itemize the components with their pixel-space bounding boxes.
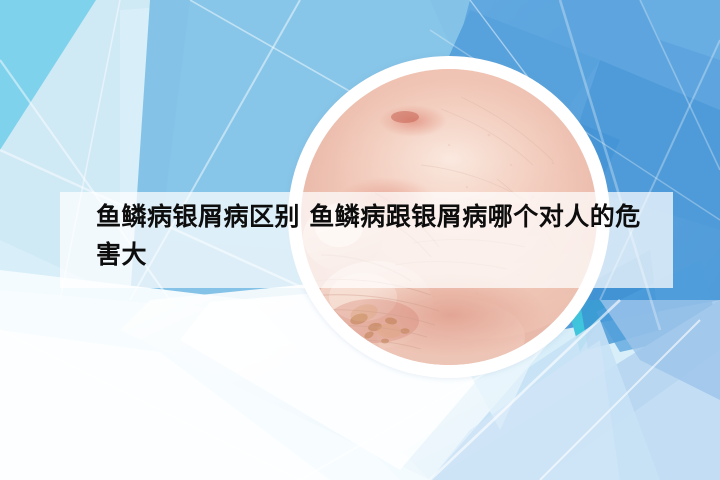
page-title: 鱼鳞病银屑病区别 鱼鳞病跟银屑病哪个对人的危害大 [96, 198, 656, 274]
thumbnail-canvas: 鱼鳞病银屑病区别 鱼鳞病跟银屑病哪个对人的危害大 [0, 0, 720, 480]
